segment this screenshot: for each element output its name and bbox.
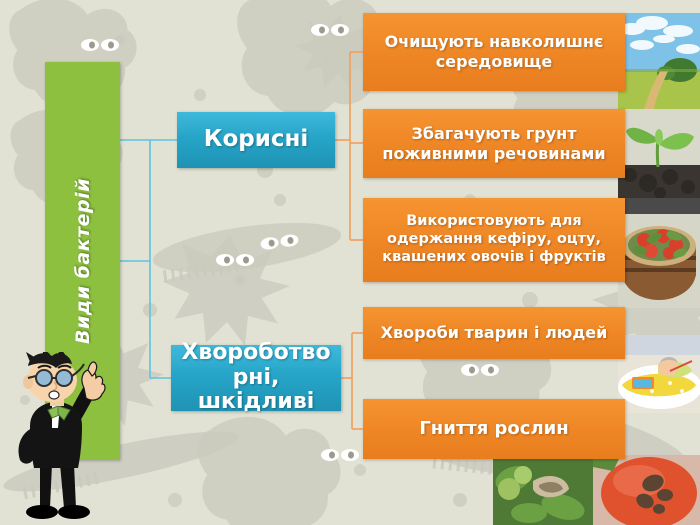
slide-canvas: Види бактерій Корисні Хвороботворні, шкі… (0, 0, 700, 525)
leaf-label-animal-human-diseases: Хвороби тварин і людей (381, 323, 608, 343)
sick-child-in-bed-photo (618, 335, 700, 413)
category-box-useful[interactable]: Корисні (177, 112, 335, 168)
cartoon-professor-pointing-up (0, 352, 118, 525)
leaf-box-clean-environment[interactable]: Очищують навколишнє середовище (363, 13, 625, 91)
category-label-harmful: Хвороботворні, шкідливі (177, 341, 335, 415)
seedling-in-soil-photo (618, 109, 700, 199)
category-box-harmful[interactable]: Хвороботворні, шкідливі (171, 345, 341, 411)
rotting-tomatoes-photo (493, 455, 700, 525)
root-node-label: Види бактерій (72, 178, 94, 344)
leaf-box-animal-human-diseases[interactable]: Хвороби тварин і людей (363, 307, 625, 359)
barrel-pickled-vegetables-photo (618, 198, 700, 308)
leaf-box-plant-rot[interactable]: Гниття рослин (363, 399, 625, 459)
leaf-label-fermentation: Використовують для одержання кефіру, оцт… (373, 213, 615, 266)
leaf-label-plant-rot: Гниття рослин (419, 418, 568, 440)
leaf-label-enrich-soil: Збагачують грунт поживними речовинами (373, 124, 615, 163)
countryside-path-field-photo (618, 13, 700, 109)
leaf-box-fermentation[interactable]: Використовують для одержання кефіру, оцт… (363, 198, 625, 282)
leaf-box-enrich-soil[interactable]: Збагачують грунт поживними речовинами (363, 109, 625, 178)
category-label-useful: Корисні (204, 127, 309, 153)
leaf-label-clean-environment: Очищують навколишнє середовище (373, 32, 615, 71)
